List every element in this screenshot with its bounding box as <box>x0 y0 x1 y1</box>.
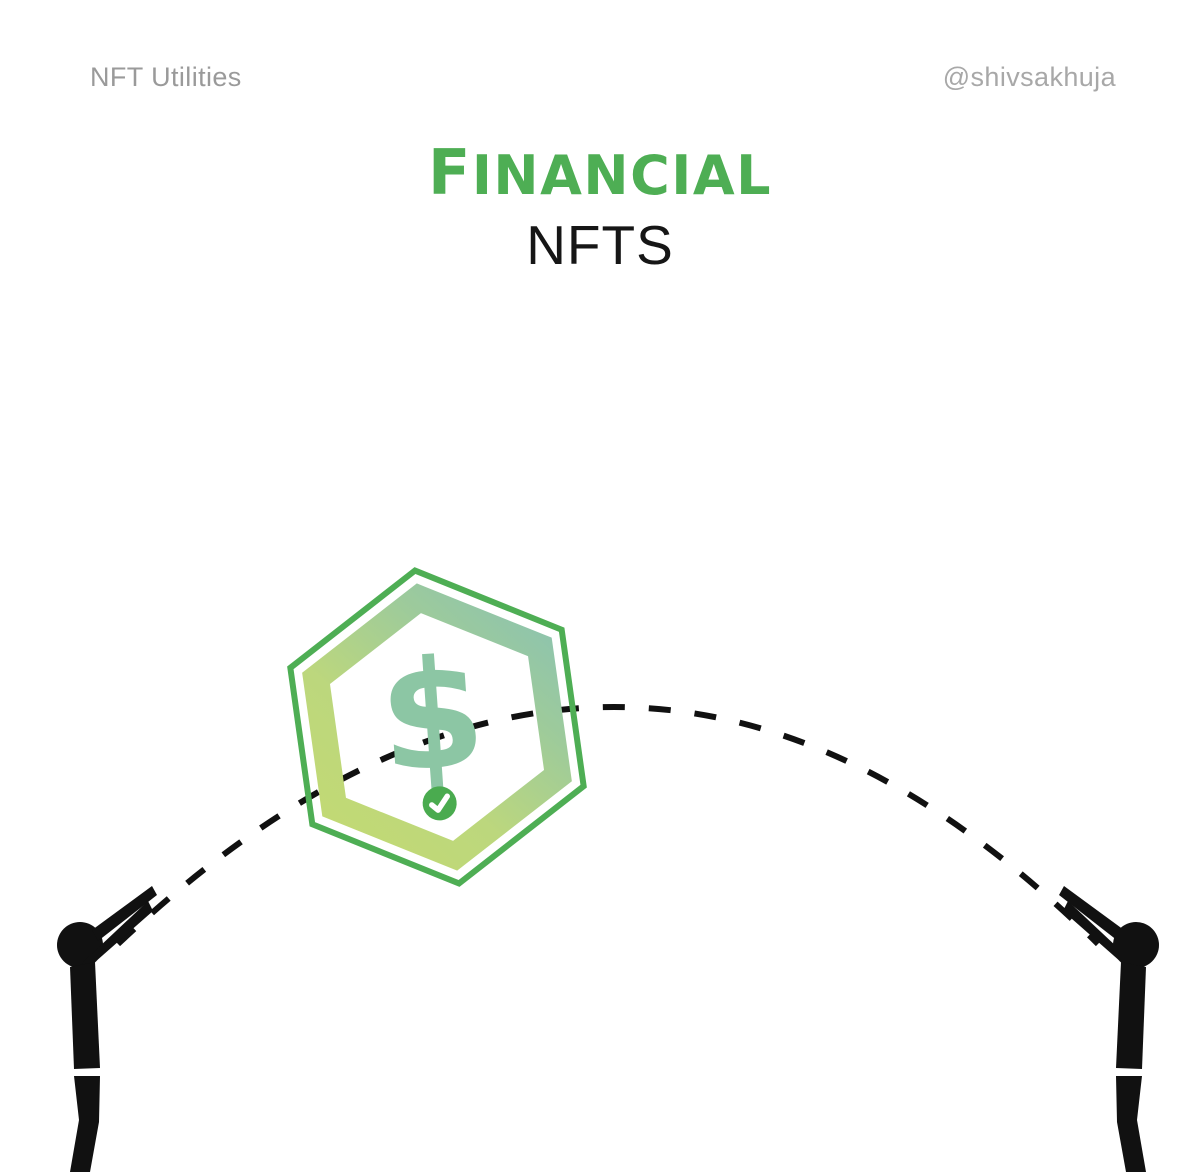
left-figure-legs <box>70 1076 100 1172</box>
illustration: $ <box>0 0 1200 1172</box>
financial-nft-hexagon-badge: $ <box>279 551 594 902</box>
dollar-sign-icon: $ <box>374 626 490 807</box>
left-figure-torso <box>70 962 100 1069</box>
right-figure-legs <box>1116 1076 1146 1172</box>
person-right-catching <box>1059 886 1159 1172</box>
right-figure-torso <box>1116 962 1146 1069</box>
person-left-throwing <box>57 886 157 1172</box>
slide-canvas: NFT Utilities @shivsakhuja FINANCIAL NFT… <box>0 0 1200 1172</box>
dashed-trajectory-arc <box>118 707 1098 944</box>
